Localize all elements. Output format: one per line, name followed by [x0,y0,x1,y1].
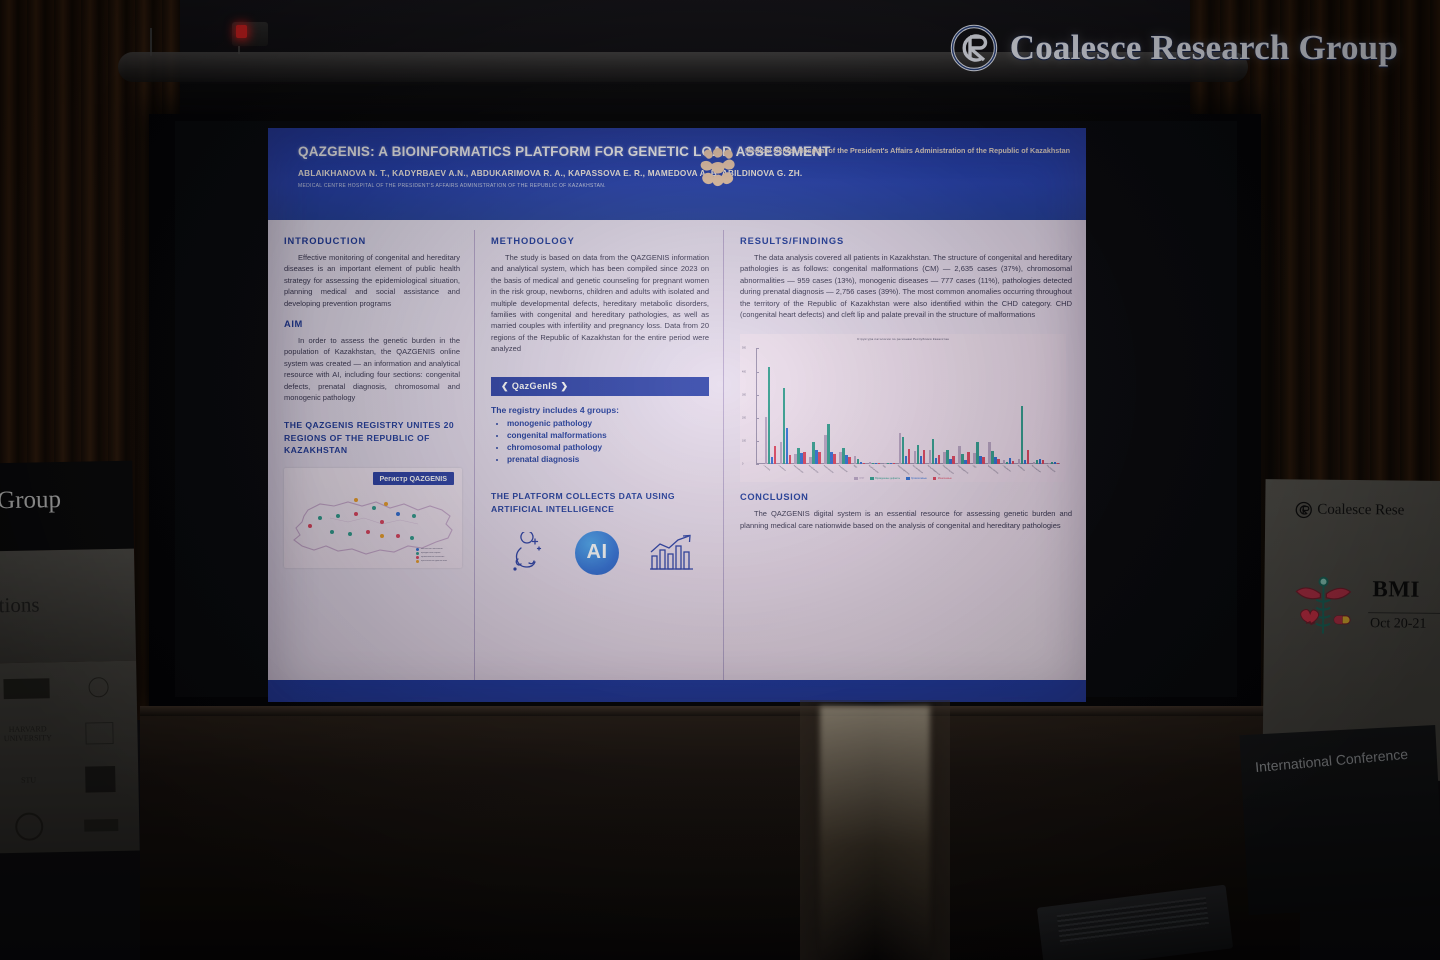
chart-bar [997,459,999,464]
chart-legend-label: Врожденные дефекты [875,477,900,480]
chart-x-tick-label: СКО [972,465,976,469]
ai-platform-heading: THE PLATFORM COLLECTS DATA USING ARTIFIC… [491,490,709,515]
map-legend: моногенная патология врожденные пороки х… [416,548,458,564]
standee-conference-title: BMI [1372,576,1420,602]
qazgenis-banner: ❮ QazGenIS ❯ [491,377,709,396]
chart-bar [908,449,910,464]
chart-title: Структура патологии по регионам Республи… [740,337,1066,341]
org-logo: Medical Center Hospital of the President… [698,146,1070,190]
chart-legend-label: Моногенные [938,477,952,480]
ai-icon-row: AI [491,531,709,575]
chart-bar [833,454,835,464]
poster-body: INTRODUCTION Effective monitoring of con… [268,220,1086,680]
chart-bar-group [929,348,940,464]
aim-text: In order to assess the genetic burden in… [284,335,460,403]
chart-y-tick-mark [756,348,759,349]
chart-y-tick-mark [756,395,759,396]
chart-x-tick-label: Абайская [1016,465,1024,472]
map-title: Регистр QAZGENIS [373,472,454,485]
chart-bar [982,457,984,464]
chart-legend-swatch [870,477,874,481]
research-poster: QAZGENIS: A BIOINFORMATICS PLATFORM FOR … [268,128,1086,702]
kazakh-ornament-icon [698,146,738,190]
chart-bar-group [869,348,880,464]
chart-bar [789,455,791,465]
chart-bar-group [884,348,895,464]
chart-bar [863,463,865,465]
standee-brand-text: Coalesce Rese [1317,502,1404,520]
sponsor-logo [63,664,134,711]
poster-column-methodology: METHODOLOGY The study is based on data f… [474,230,724,680]
chart-x-tick-label: Кызылординская [927,465,940,476]
chart-legend-swatch [933,477,937,481]
registry-highlight: THE QAZGENIS REGISTRY UNITES 20 REGIONS … [284,419,460,456]
sponsor-logo [64,756,135,803]
chart-y-tick-label: 0 [742,463,743,466]
coalesce-cr-monogram-icon [1295,501,1312,518]
chart-bar-group [899,348,910,464]
chart-y-tick-mark [756,464,759,465]
sponsor-logo-label: STU [21,776,36,785]
coalesce-research-group-watermark: Coalesce Research Group [950,24,1398,72]
brand-name: Coalesce Research Group [1010,28,1398,68]
standee-divider [1368,612,1440,614]
chart-x-tick-label: Мангистауская [942,465,954,475]
chart-y-axis [756,348,757,464]
chart-x-tick-label: ВКО [853,465,857,469]
standee-brand-lockup: Coalesce Rese [1295,501,1404,519]
map-legend-item: врожденные пороки [421,552,440,554]
regional-pathology-bar-chart: Структура патологии по регионам Республи… [740,334,1066,482]
introduction-heading: INTRODUCTION [284,236,460,246]
chart-bar-group [1018,348,1029,464]
poster-header: QAZGENIS: A BIOINFORMATICS PLATFORM FOR … [268,128,1086,220]
chart-bar [938,455,940,464]
confidence-monitor: International Conference [1239,725,1440,915]
chart-x-tick-label: Улытауская [1046,465,1056,473]
chart-bar [818,452,820,464]
chart-bar-group [794,348,805,464]
chart-bar [768,367,770,464]
chart-bar-group [765,348,776,464]
chart-bar-group [943,348,954,464]
chart-bar-group [914,348,925,464]
chart-bar [923,450,925,464]
chart-y-tick-label: 500 [742,347,746,350]
results-text: The data analysis covered all patients i… [740,252,1072,320]
standee-brand-text: rch Group [0,486,61,516]
chart-plot-area: г. Астанаг. АлматыАкмолинскаяАктюбинская… [762,348,1060,464]
chart-legend-item: ВПР [854,477,864,481]
chart-x-tick-label: Алматинская [823,465,834,474]
chart-y-tick-label: 300 [742,393,746,396]
chart-bar [1027,450,1029,464]
chart-x-tick-label: г. Шымкент [1002,465,1011,473]
chart-legend-item: Врожденные дефекты [870,477,900,481]
registry-groups-heading: The registry includes 4 groups: [491,405,709,415]
kazakhstan-registry-map: Регистр QAZGENIS [284,468,462,568]
chart-x-tick-label: Карагандинская [897,465,910,475]
sponsor-logo: HARVARD UNIVERSITY [0,711,63,758]
chart-legend: ВПРВрожденные дефектыХромосомныеМоногенн… [740,477,1066,481]
chart-x-tick-label: г. Астана [763,465,770,471]
chart-bar [774,446,776,465]
conference-room-photo: QAZGENIS: A BIOINFORMATICS PLATFORM FOR … [0,0,1440,960]
standee-subtitle-text: ntations [0,592,40,618]
chart-bar-group [1048,348,1059,464]
poster-column-introduction: INTRODUCTION Effective monitoring of con… [268,230,474,680]
list-item: congenital malformations [507,430,709,442]
chart-legend-swatch [906,477,910,481]
map-legend-item: моногенная патология [421,548,443,550]
chart-bar-group [780,348,791,464]
chart-x-tick-label: Павлодарская [957,465,968,475]
chart-x-tick-label: Акмолинская [793,465,804,474]
chart-y-tick-label: 100 [742,440,746,443]
chart-bar-group [824,348,835,464]
chart-legend-item: Хромосомные [906,477,927,481]
chart-legend-label: ВПР [859,477,864,480]
caduceus-icon [1292,571,1355,640]
monitor-text: International Conference [1254,746,1408,775]
chart-bar [1012,461,1014,464]
conclusion-heading: CONCLUSION [740,492,1072,502]
chart-bar [952,456,954,465]
chart-bar [848,457,850,464]
chart-bar [1021,406,1023,464]
list-item: monogenic pathology [507,418,709,430]
projector-status-led-icon [236,25,247,38]
coalesce-cr-monogram-icon [950,24,998,72]
registry-groups-list: monogenic pathology congenital malformat… [491,418,709,467]
chart-x-tick-label: г. Алматы [778,465,786,472]
door-light [820,706,930,960]
stage-edge [140,706,1300,716]
chart-y-tick-label: 400 [742,370,746,373]
org-logo-text: Medical Center Hospital of the President… [745,146,1070,156]
methodology-heading: METHODOLOGY [491,236,709,246]
standee-top-panel: rch Group [0,461,134,552]
sponsor-logo [0,804,65,851]
chart-bar [803,452,805,465]
chart-bar-group [854,348,865,464]
standee-mid-panel: ntations [0,549,136,664]
chart-x-tick-label: ЗКО [882,465,886,469]
chart-y-tick-mark [756,418,759,419]
chart-bar [893,463,895,464]
chart-bar-group [988,348,999,464]
chart-legend-item: Моногенные [933,477,952,481]
list-item: prenatal diagnosis [507,454,709,466]
chart-bar [967,452,969,465]
chart-x-tick-label: Туркестанская [987,465,999,475]
standee-date: Oct 20-21 [1370,616,1427,633]
chart-bar [1057,463,1059,465]
chart-bar-group [1003,348,1014,464]
standee-sponsor-logo-grid: HARVARD UNIVERSITY STU [0,661,140,854]
list-item: chromosomal pathology [507,442,709,454]
chart-x-tick-label: Жамбылская [867,465,878,474]
chart-x-tick-label: Костанайская [912,465,923,474]
chart-bar-group [958,348,969,464]
chart-y-tick-mark [756,372,759,373]
sponsor-logo [64,710,135,757]
chart-x-tick-label: Актюбинская [808,465,819,474]
bar-chart-growth-icon [647,532,697,574]
left-standee-banner: rch Group ntations HARVARD UNIVERSITY ST… [0,461,140,854]
chart-y-tick-label: 200 [742,416,746,419]
sponsor-logo [0,665,63,712]
aim-heading: AIM [284,319,460,329]
chart-y-tick-mark [756,441,759,442]
sponsor-logo-label: HARVARD UNIVERSITY [0,725,63,744]
chart-bar [878,463,880,464]
chart-bar-group [973,348,984,464]
chart-legend-label: Хромосомные [911,477,927,480]
conclusion-text: The QAZGENIS digital system is an essent… [740,508,1072,531]
results-heading: RESULTS/FINDINGS [740,236,1072,246]
poster-column-results: RESULTS/FINDINGS The data analysis cover… [724,230,1086,680]
map-legend-item: хромосомная патология [421,556,444,558]
chart-legend-swatch [854,477,858,481]
sponsor-logo: STU [0,757,64,804]
chart-x-tick-label: Жетысуская [1031,465,1041,473]
poster-footer-bar [268,680,1086,702]
methodology-text: The study is based on data from the QAZG… [491,252,709,355]
ai-circle-icon: AI [575,531,619,575]
chart-bar-group [839,348,850,464]
sponsor-logo [65,802,136,849]
chart-x-tick-label: Атырауская [838,465,848,473]
fetus-icon [505,532,547,574]
map-legend-item: пренатальная диагностика [421,560,447,562]
introduction-text: Effective monitoring of congenital and h… [284,252,460,309]
chart-bar-group [809,348,820,464]
chart-bar-group [1033,348,1044,464]
chart-bar [1042,460,1044,465]
